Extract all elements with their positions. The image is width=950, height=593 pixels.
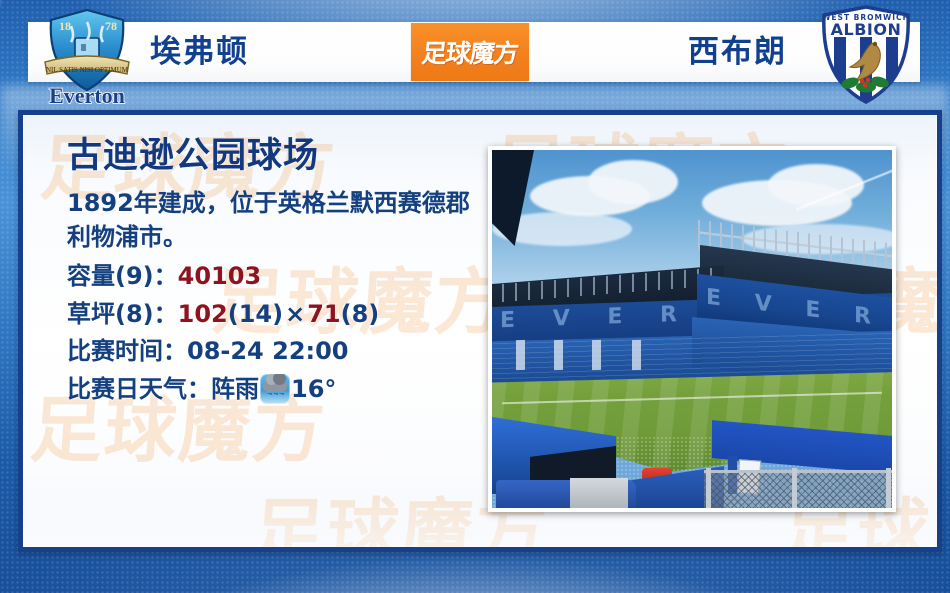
site-logo-badge[interactable]: 足球魔方 [411,23,529,81]
shower-rain-icon [260,374,290,404]
multiply-sign: × [283,300,307,328]
match-time-row: 比赛时间：08-24 22:00 [67,333,497,371]
weather-temperature: 16° [291,375,336,403]
capacity-row: 容量(9)：40103 [67,258,497,296]
photo-mesh-fence [704,470,892,508]
svg-text:ALBION: ALBION [831,20,902,39]
pitch-width-rating: (8) [341,300,380,328]
stadium-photo-frame[interactable]: E V E R T O N E V E R [488,146,896,512]
pitch-size-row: 草坪(8)：102(14)×71(8) [67,296,497,334]
weather-row: 比赛日天气：阵雨16° [67,371,497,409]
capacity-label: 容量(9)： [67,262,178,290]
svg-text:Everton: Everton [49,83,125,108]
weather-condition: 阵雨 [211,375,259,403]
svg-text:18: 18 [59,19,71,33]
stadium-photo: E V E R T O N E V E R [492,150,892,508]
svg-text:78: 78 [105,19,117,33]
pitch-length-rating: (14) [228,300,283,328]
stadium-info-block: 古迪逊公园球场 1892年建成，位于英格兰默西赛德郡利物浦市。 容量(9)：40… [67,137,497,409]
match-preview-card: 埃弗顿 西布朗 足球魔方 NIL SATIS NISI OPTIMUM 18 7… [0,0,950,593]
pitch-width-value: 71 [307,300,340,328]
content-panel: 足球魔方 足球魔方 足球魔方 足球魔方 足球魔方 足球魔方 足球魔方 足球魔方 … [18,110,942,552]
site-logo-text: 足球魔方 [420,34,520,70]
svg-text:NIL SATIS NISI OPTIMUM: NIL SATIS NISI OPTIMUM [46,66,129,74]
west-bromwich-albion-crest-icon: WEST BROMWICH ALBION [816,3,916,107]
stadium-title: 古迪逊公园球场 [67,137,497,176]
match-time-label: 比赛时间： [67,337,187,365]
weather-label: 比赛日天气： [67,375,211,403]
photo-concrete-steps [570,478,628,508]
pitch-label: 草坪(8)： [67,300,178,328]
away-team-name: 西布朗 [688,22,787,82]
match-time-value: 08-24 22:00 [187,337,349,365]
capacity-value: 40103 [178,262,262,290]
stadium-description: 1892年建成，位于英格兰默西赛德郡利物浦市。 [67,186,477,254]
everton-crest-icon: NIL SATIS NISI OPTIMUM 18 78 Everton [33,4,141,108]
home-team-name: 埃弗顿 [150,22,249,82]
pitch-length-value: 102 [178,300,228,328]
